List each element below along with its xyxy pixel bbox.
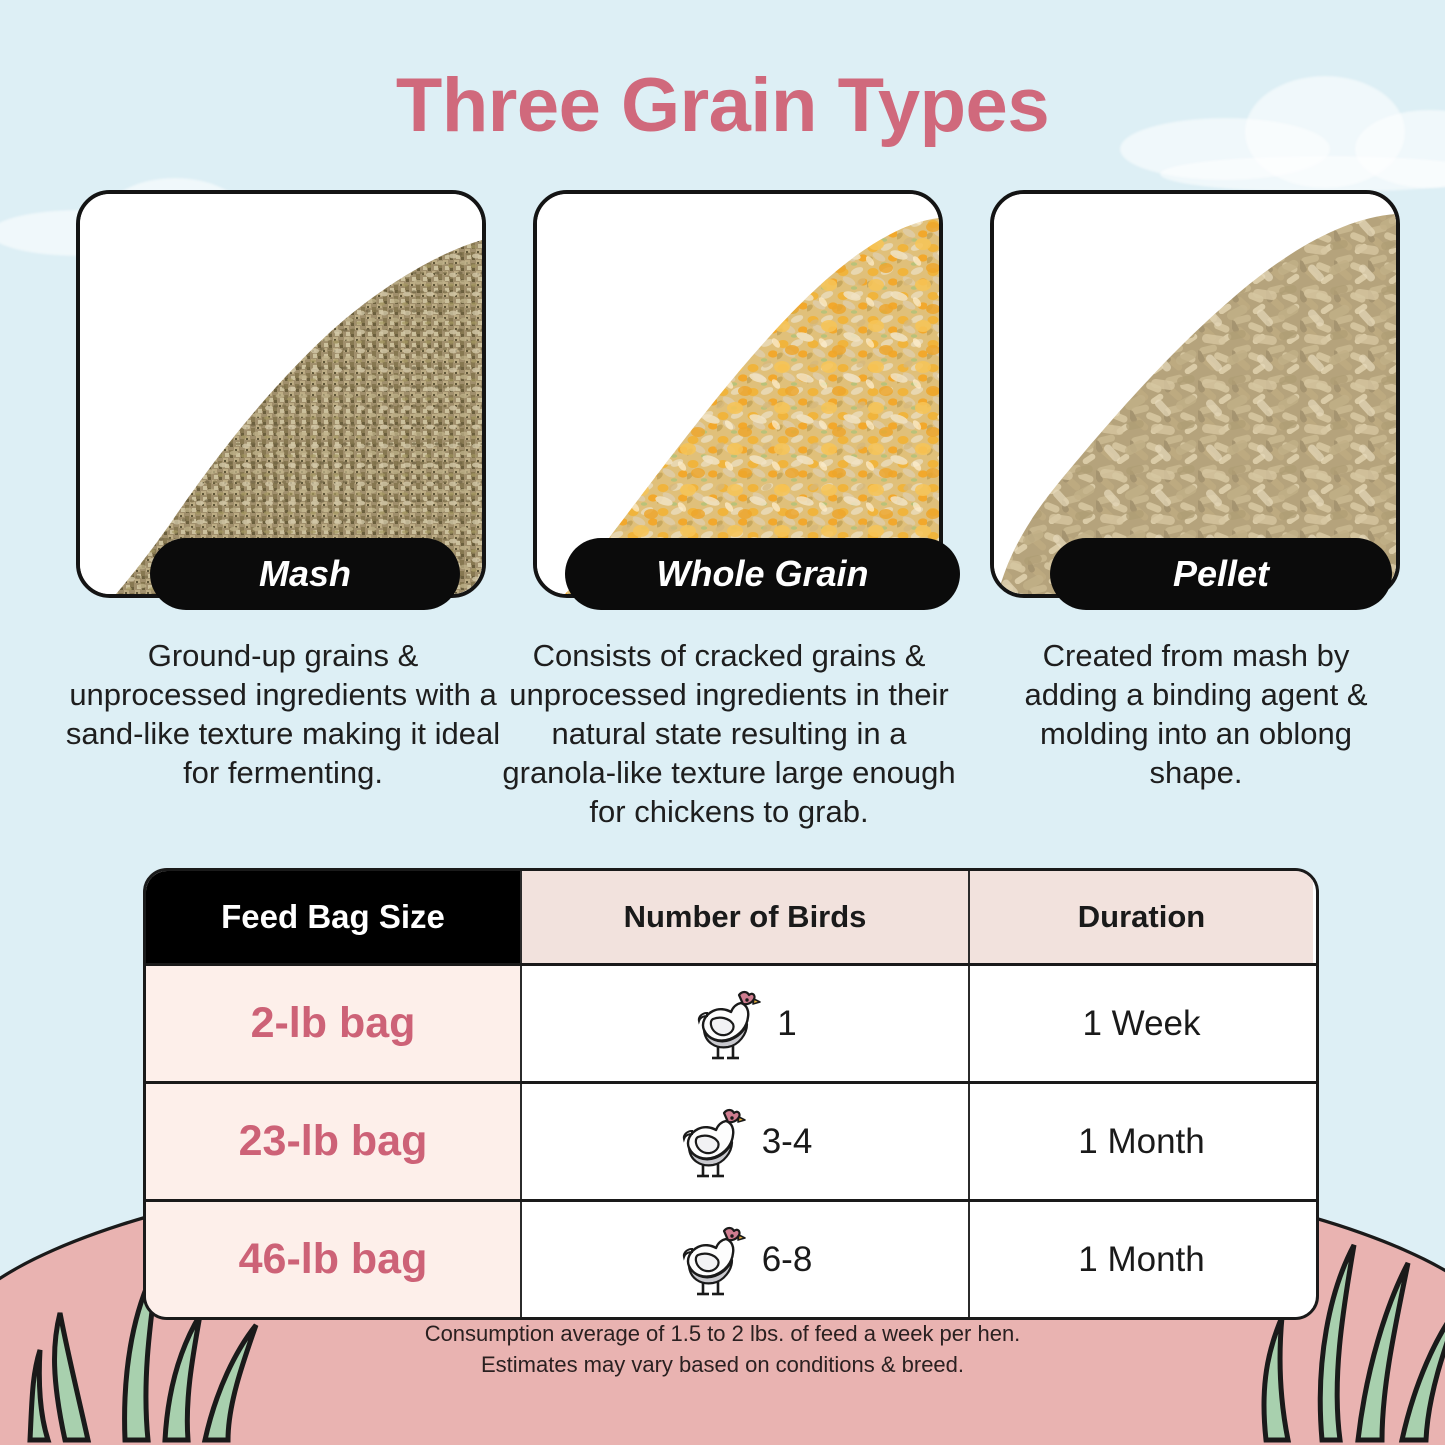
- table-cell-bag-size: 23-lb bag: [146, 1084, 520, 1199]
- table-cell-number-of-birds: 3-4: [520, 1084, 968, 1199]
- grain-card-whole-grain: [533, 190, 943, 598]
- bird-count-label: 6-8: [762, 1240, 813, 1280]
- table-header-feed-bag-size: Feed Bag Size: [146, 871, 520, 963]
- table-cell-duration: 1 Month: [968, 1084, 1313, 1199]
- grain-label-text: Whole Grain: [656, 553, 868, 595]
- grain-label-pellet: Pellet: [1050, 538, 1392, 610]
- pellet-pile-image: [994, 194, 1396, 594]
- table-cell-bag-size: 2-lb bag: [146, 966, 520, 1081]
- grain-label-text: Pellet: [1173, 553, 1269, 595]
- mash-pile-image: [80, 194, 482, 594]
- chicken-icon: [678, 1105, 748, 1179]
- table-row: 23-lb bag: [146, 1081, 1316, 1199]
- grain-label-whole-grain: Whole Grain: [565, 538, 960, 610]
- footnote: Consumption average of 1.5 to 2 lbs. of …: [0, 1318, 1445, 1380]
- whole-grain-pile-image: [537, 194, 939, 594]
- table-header-row: Feed Bag Size Number of Birds Duration: [146, 871, 1316, 963]
- grain-description-whole-grain: Consists of cracked grains & unprocessed…: [495, 636, 963, 831]
- footnote-line-2: Estimates may vary based on conditions &…: [0, 1349, 1445, 1380]
- table-cell-bag-size: 46-lb bag: [146, 1202, 520, 1317]
- bird-count-label: 1: [777, 1004, 796, 1044]
- page-title: Three Grain Types: [0, 62, 1445, 149]
- grain-label-text: Mash: [259, 553, 351, 595]
- bird-count-label: 3-4: [762, 1122, 813, 1162]
- table-cell-duration: 1 Week: [968, 966, 1313, 1081]
- grain-label-mash: Mash: [150, 538, 460, 610]
- grain-description-pellet: Created from mash by adding a binding ag…: [1010, 636, 1382, 792]
- table-cell-duration: 1 Month: [968, 1202, 1313, 1317]
- table-row: 46-lb bag: [146, 1199, 1316, 1317]
- grain-description-mash: Ground-up grains & unprocessed ingredien…: [60, 636, 506, 792]
- footnote-line-1: Consumption average of 1.5 to 2 lbs. of …: [0, 1318, 1445, 1349]
- grain-card-mash: [76, 190, 486, 598]
- table-cell-number-of-birds: 6-8: [520, 1202, 968, 1317]
- table-header-number-of-birds: Number of Birds: [520, 871, 968, 963]
- chicken-icon: [678, 1223, 748, 1297]
- feed-bag-table: Feed Bag Size Number of Birds Duration 2…: [143, 868, 1319, 1320]
- infographic-canvas: Three Grain Types: [0, 0, 1445, 1445]
- table-cell-number-of-birds: 1: [520, 966, 968, 1081]
- grain-card-pellet: [990, 190, 1400, 598]
- table-header-duration: Duration: [968, 871, 1313, 963]
- table-row: 2-lb bag: [146, 963, 1316, 1081]
- chicken-icon: [693, 987, 763, 1061]
